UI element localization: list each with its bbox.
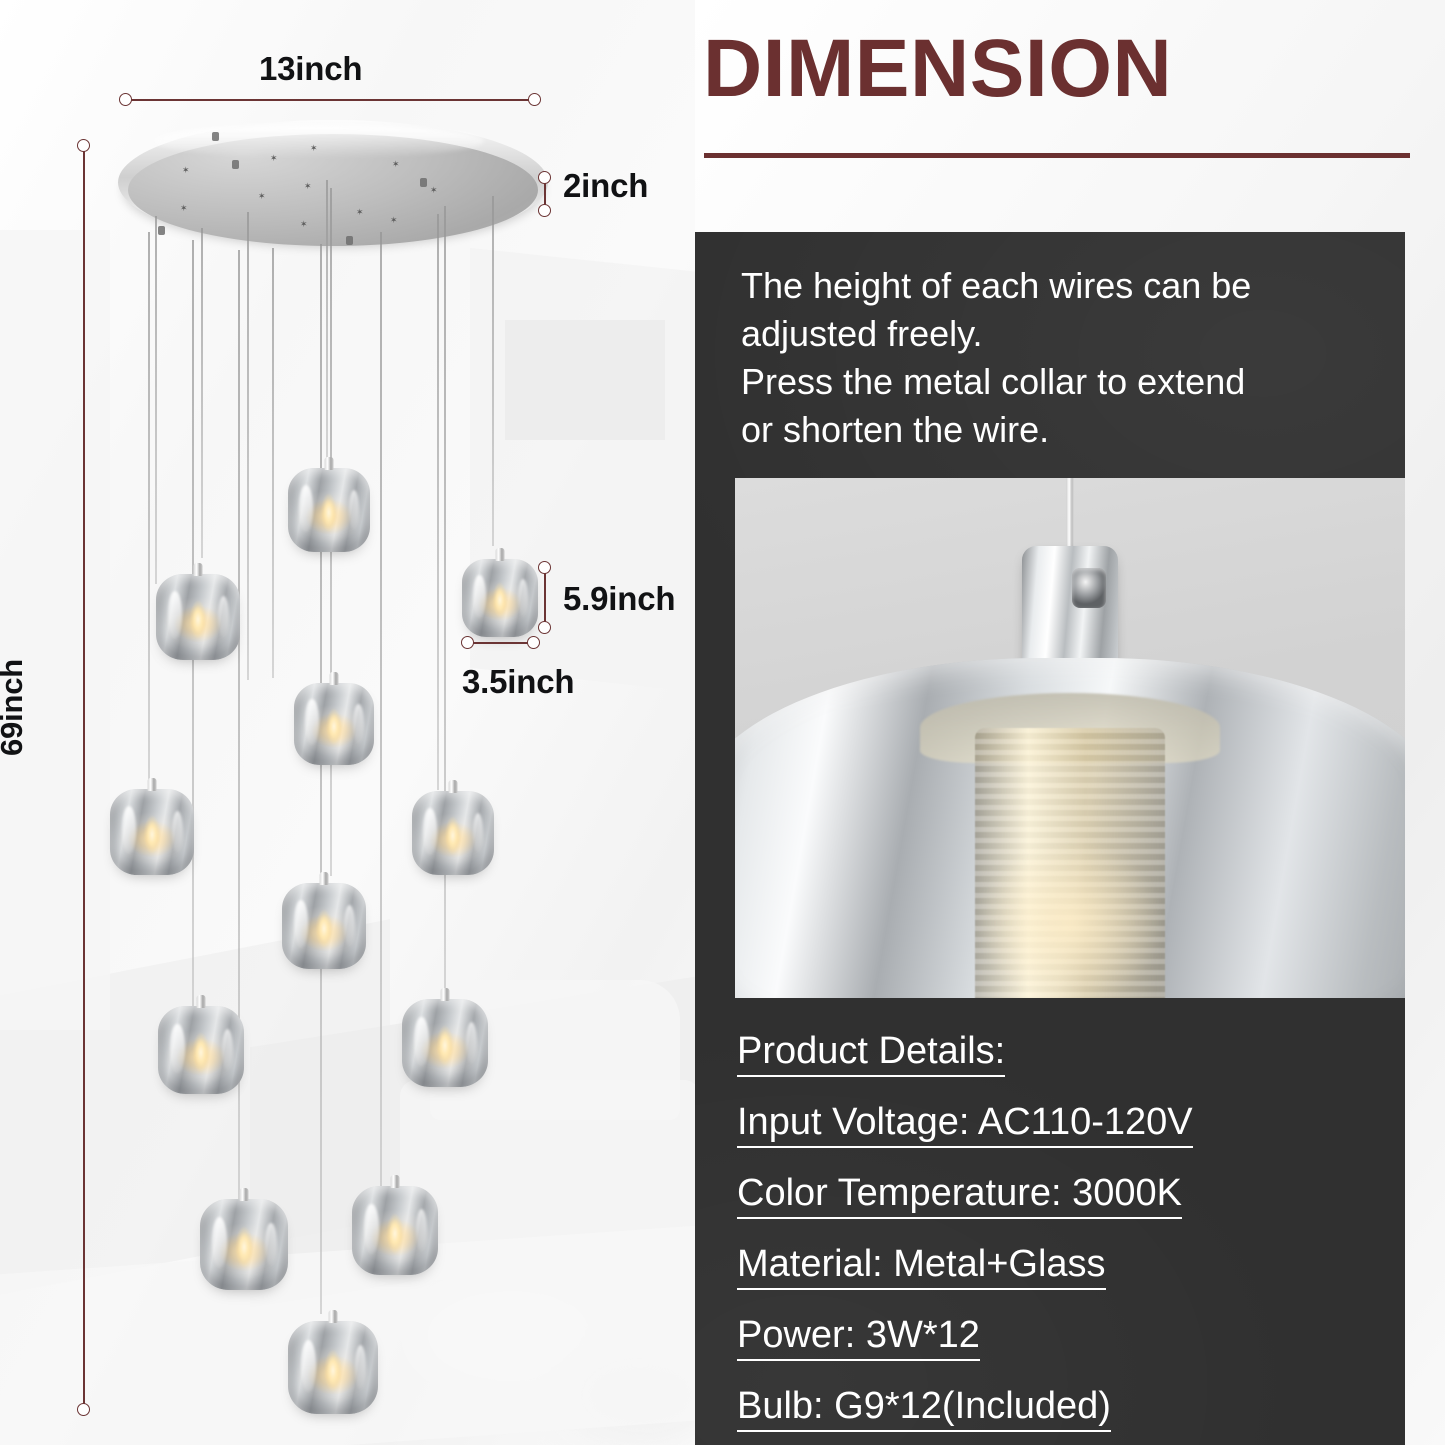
photo-metal-collar <box>1022 546 1118 674</box>
pendant-light <box>156 563 240 660</box>
pendant-light <box>200 1188 288 1290</box>
measure-node <box>538 204 551 217</box>
pendant-light <box>288 457 370 552</box>
dimension-diagram-pane: 13inch 2inch 69inch 5.9inch <box>0 0 695 1445</box>
instruction-line: adjusted freely. <box>741 310 1369 358</box>
measure-node <box>528 93 541 106</box>
pendant-light <box>402 988 488 1087</box>
title-divider <box>704 153 1410 158</box>
product-detail-row: Material: Metal+Glass <box>737 1245 1106 1290</box>
pendant-light <box>412 780 494 875</box>
measure-node <box>538 561 551 574</box>
instruction-text: The height of each wires can be adjusted… <box>741 262 1369 454</box>
pendant-light <box>282 872 366 969</box>
photo-bulb-glow <box>940 808 1200 998</box>
product-detail-row: Color Temperature: 3000K <box>737 1174 1182 1219</box>
product-details-list: Product Details: Input Voltage: AC110-12… <box>737 1032 1377 1445</box>
product-detail-row: Bulb: G9*12(Included) <box>737 1387 1111 1432</box>
pendant-light <box>110 778 194 875</box>
measure-node <box>461 636 474 649</box>
instruction-line: Press the metal collar to extend <box>741 358 1369 406</box>
measurement-label-13inch: 13inch <box>259 50 362 88</box>
product-detail-row: Input Voltage: AC110-120V <box>737 1103 1193 1148</box>
photo-wire <box>1066 478 1074 554</box>
measure-node <box>527 636 540 649</box>
pendant-light <box>158 995 244 1094</box>
measure-node <box>119 93 132 106</box>
pendant-light <box>288 1310 378 1414</box>
instruction-line: or shorten the wire. <box>741 406 1369 454</box>
measure-node <box>538 171 551 184</box>
measurement-label-69inch: 69inch <box>0 659 30 756</box>
measure-node <box>538 621 551 634</box>
pendant-light <box>352 1175 438 1275</box>
info-pane: DIMENSION The height of each wires can b… <box>695 0 1445 1445</box>
pendant-light <box>294 672 374 765</box>
metal-collar-closeup-photo <box>735 478 1405 998</box>
ceiling-canopy-plate <box>118 120 548 270</box>
instruction-line: The height of each wires can be <box>741 262 1369 310</box>
measurement-label-3point5inch: 3.5inch <box>462 663 574 701</box>
product-detail-row: Power: 3W*12 <box>737 1316 980 1361</box>
measure-node <box>77 1403 90 1416</box>
pendant-light <box>462 548 538 637</box>
page-title: DIMENSION <box>703 28 1417 110</box>
measure-node <box>77 139 90 152</box>
measurement-label-5point9inch: 5.9inch <box>563 580 675 618</box>
product-details-heading: Product Details: <box>737 1032 1005 1077</box>
measurement-label-2inch: 2inch <box>563 167 648 205</box>
photo-collar-button <box>1072 568 1106 608</box>
instruction-panel: The height of each wires can be adjusted… <box>695 232 1405 1445</box>
